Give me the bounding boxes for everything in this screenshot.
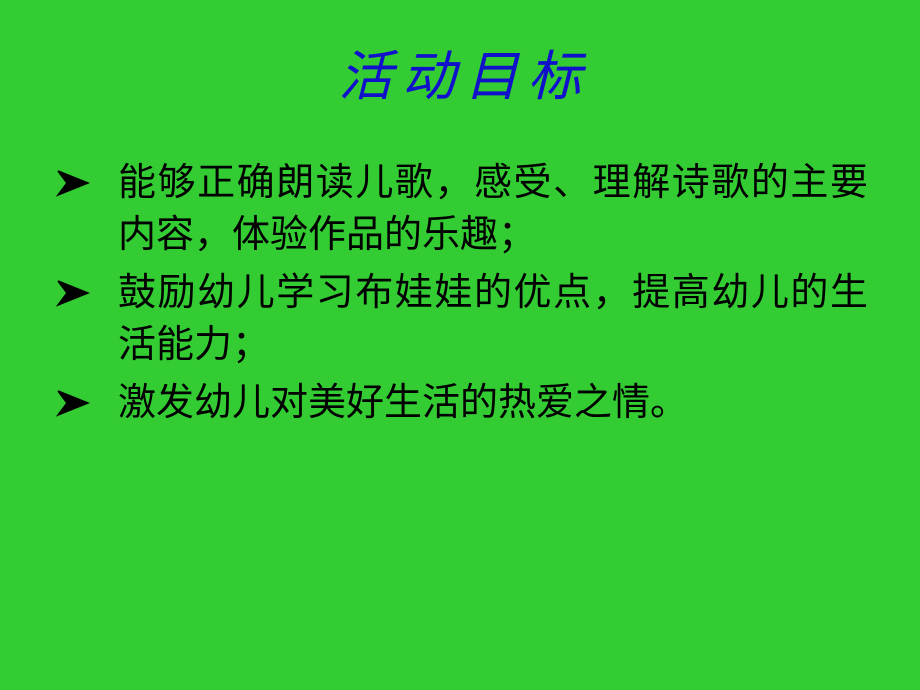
list-item: 鼓励幼儿学习布娃娃的优点，提高幼儿的生活能力； bbox=[52, 267, 868, 371]
list-item-label: 激发幼儿对美好生活的热爱之情。 bbox=[118, 377, 868, 429]
page-title: 活动目标 bbox=[0, 46, 920, 108]
arrowhead-bullet-icon bbox=[52, 377, 96, 429]
list-item-label: 能够正确朗读儿歌，感受、理解诗歌的主要内容，体验作品的乐趣； bbox=[118, 157, 868, 261]
list-item-label: 鼓励幼儿学习布娃娃的优点，提高幼儿的生活能力； bbox=[118, 267, 868, 371]
objectives-bullet-list: 能够正确朗读儿歌，感受、理解诗歌的主要内容，体验作品的乐趣； 鼓励幼儿学习布娃娃… bbox=[52, 157, 868, 435]
presentation-slide: 活动目标 能够正确朗读儿歌，感受、理解诗歌的主要内容，体验作品的乐趣； 鼓 bbox=[0, 0, 920, 690]
arrowhead-bullet-icon bbox=[52, 267, 96, 319]
arrowhead-bullet-icon bbox=[52, 157, 96, 209]
list-item: 激发幼儿对美好生活的热爱之情。 bbox=[52, 377, 868, 429]
list-item: 能够正确朗读儿歌，感受、理解诗歌的主要内容，体验作品的乐趣； bbox=[52, 157, 868, 261]
